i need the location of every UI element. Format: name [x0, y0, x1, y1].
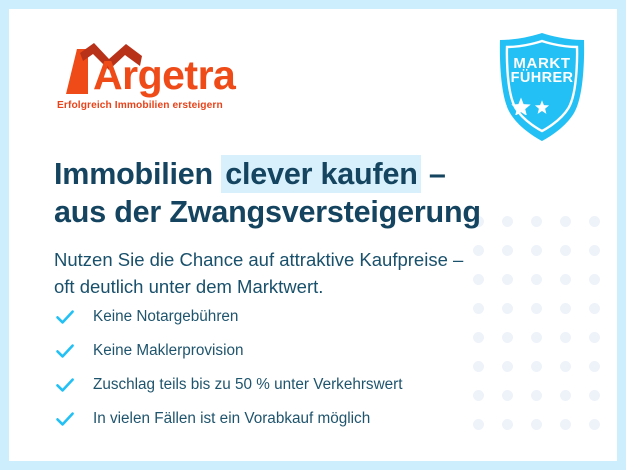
benefit-label: Keine Maklerprovision [93, 342, 244, 360]
dot-cell [522, 410, 551, 439]
dot-cell [522, 323, 551, 352]
decorative-dot [473, 419, 484, 430]
decorative-dot-grid [464, 207, 609, 439]
dot-cell [464, 352, 493, 381]
benefit-item: Keine Maklerprovision [54, 336, 402, 366]
decorative-dot [531, 303, 542, 314]
benefit-label: In vielen Fällen ist ein Vorabkauf mögli… [93, 410, 370, 428]
dot-cell [551, 381, 580, 410]
decorative-dot [589, 303, 600, 314]
benefit-item: In vielen Fällen ist ein Vorabkauf mögli… [54, 404, 402, 434]
decorative-dot [589, 390, 600, 401]
benefit-label: Zuschlag teils bis zu 50 % unter Verkehr… [93, 376, 402, 394]
check-icon [54, 340, 76, 362]
benefit-item: Keine Notargebühren [54, 302, 402, 332]
headline-line1-post: – [421, 157, 446, 191]
market-leader-badge: MARKT FÜHRER [490, 31, 594, 143]
decorative-dot [589, 216, 600, 227]
logo-mark-icon: Argetra [54, 42, 244, 102]
decorative-dot [502, 332, 513, 343]
decorative-dot [502, 419, 513, 430]
poster-canvas: Argetra Erfolgreich Immobilien ersteiger… [9, 9, 617, 461]
dot-cell [580, 207, 609, 236]
decorative-dot [473, 303, 484, 314]
dot-cell [493, 352, 522, 381]
dot-cell [551, 323, 580, 352]
subheadline-line2: oft deutlich unter dem Marktwert. [54, 276, 323, 297]
dot-cell [580, 410, 609, 439]
headline-highlight: clever kaufen [221, 155, 420, 193]
dot-cell [551, 207, 580, 236]
subheadline-line1: Nutzen Sie die Chance auf attraktive Kau… [54, 249, 463, 270]
decorative-dot [502, 303, 513, 314]
check-icon [54, 374, 76, 396]
decorative-dot [531, 361, 542, 372]
dot-cell [464, 410, 493, 439]
decorative-dot [473, 390, 484, 401]
decorative-dot [589, 419, 600, 430]
dot-cell [580, 236, 609, 265]
dot-cell [551, 294, 580, 323]
decorative-dot [589, 332, 600, 343]
decorative-dot [473, 361, 484, 372]
dot-cell [580, 381, 609, 410]
dot-cell [580, 352, 609, 381]
decorative-dot [502, 361, 513, 372]
benefits-list: Keine NotargebührenKeine Maklerprovision… [54, 302, 402, 438]
decorative-dot [502, 390, 513, 401]
dot-cell [522, 381, 551, 410]
dot-cell [551, 236, 580, 265]
argetra-logo[interactable]: Argetra Erfolgreich Immobilien ersteiger… [54, 42, 244, 120]
check-icon [54, 306, 76, 328]
decorative-dot [560, 245, 571, 256]
check-icon [54, 408, 76, 430]
decorative-dot [473, 332, 484, 343]
decorative-dot [531, 332, 542, 343]
decorative-dot [560, 274, 571, 285]
decorative-dot [531, 390, 542, 401]
dot-cell [522, 207, 551, 236]
decorative-dot [560, 332, 571, 343]
page-subheadline: Nutzen Sie die Chance auf attraktive Kau… [54, 246, 534, 301]
benefit-label: Keine Notargebühren [93, 308, 238, 326]
shield-icon [490, 31, 594, 143]
decorative-dot [560, 390, 571, 401]
dot-cell [522, 352, 551, 381]
dot-cell [464, 323, 493, 352]
dot-cell [464, 381, 493, 410]
page-headline: Immobilien clever kaufen – aus der Zwang… [54, 156, 524, 232]
dot-cell [580, 323, 609, 352]
decorative-dot [560, 303, 571, 314]
decorative-dot [531, 419, 542, 430]
dot-cell [580, 265, 609, 294]
decorative-dot [560, 216, 571, 227]
dot-cell [493, 381, 522, 410]
dot-cell [551, 265, 580, 294]
decorative-dot [560, 361, 571, 372]
headline-line1-pre: Immobilien [54, 157, 221, 191]
decorative-dot [589, 361, 600, 372]
decorative-dot [531, 216, 542, 227]
svg-text:Argetra: Argetra [93, 52, 237, 98]
dot-cell [551, 352, 580, 381]
dot-cell [493, 410, 522, 439]
decorative-dot [589, 274, 600, 285]
headline-line2: aus der Zwangsversteigerung [54, 195, 481, 229]
decorative-dot [560, 419, 571, 430]
dot-cell [580, 294, 609, 323]
promo-poster: Argetra Erfolgreich Immobilien ersteiger… [0, 0, 626, 470]
dot-cell [493, 323, 522, 352]
logo-tagline: Erfolgreich Immobilien ersteigern [57, 100, 223, 111]
benefit-item: Zuschlag teils bis zu 50 % unter Verkehr… [54, 370, 402, 400]
decorative-dot [589, 245, 600, 256]
dot-cell [551, 410, 580, 439]
